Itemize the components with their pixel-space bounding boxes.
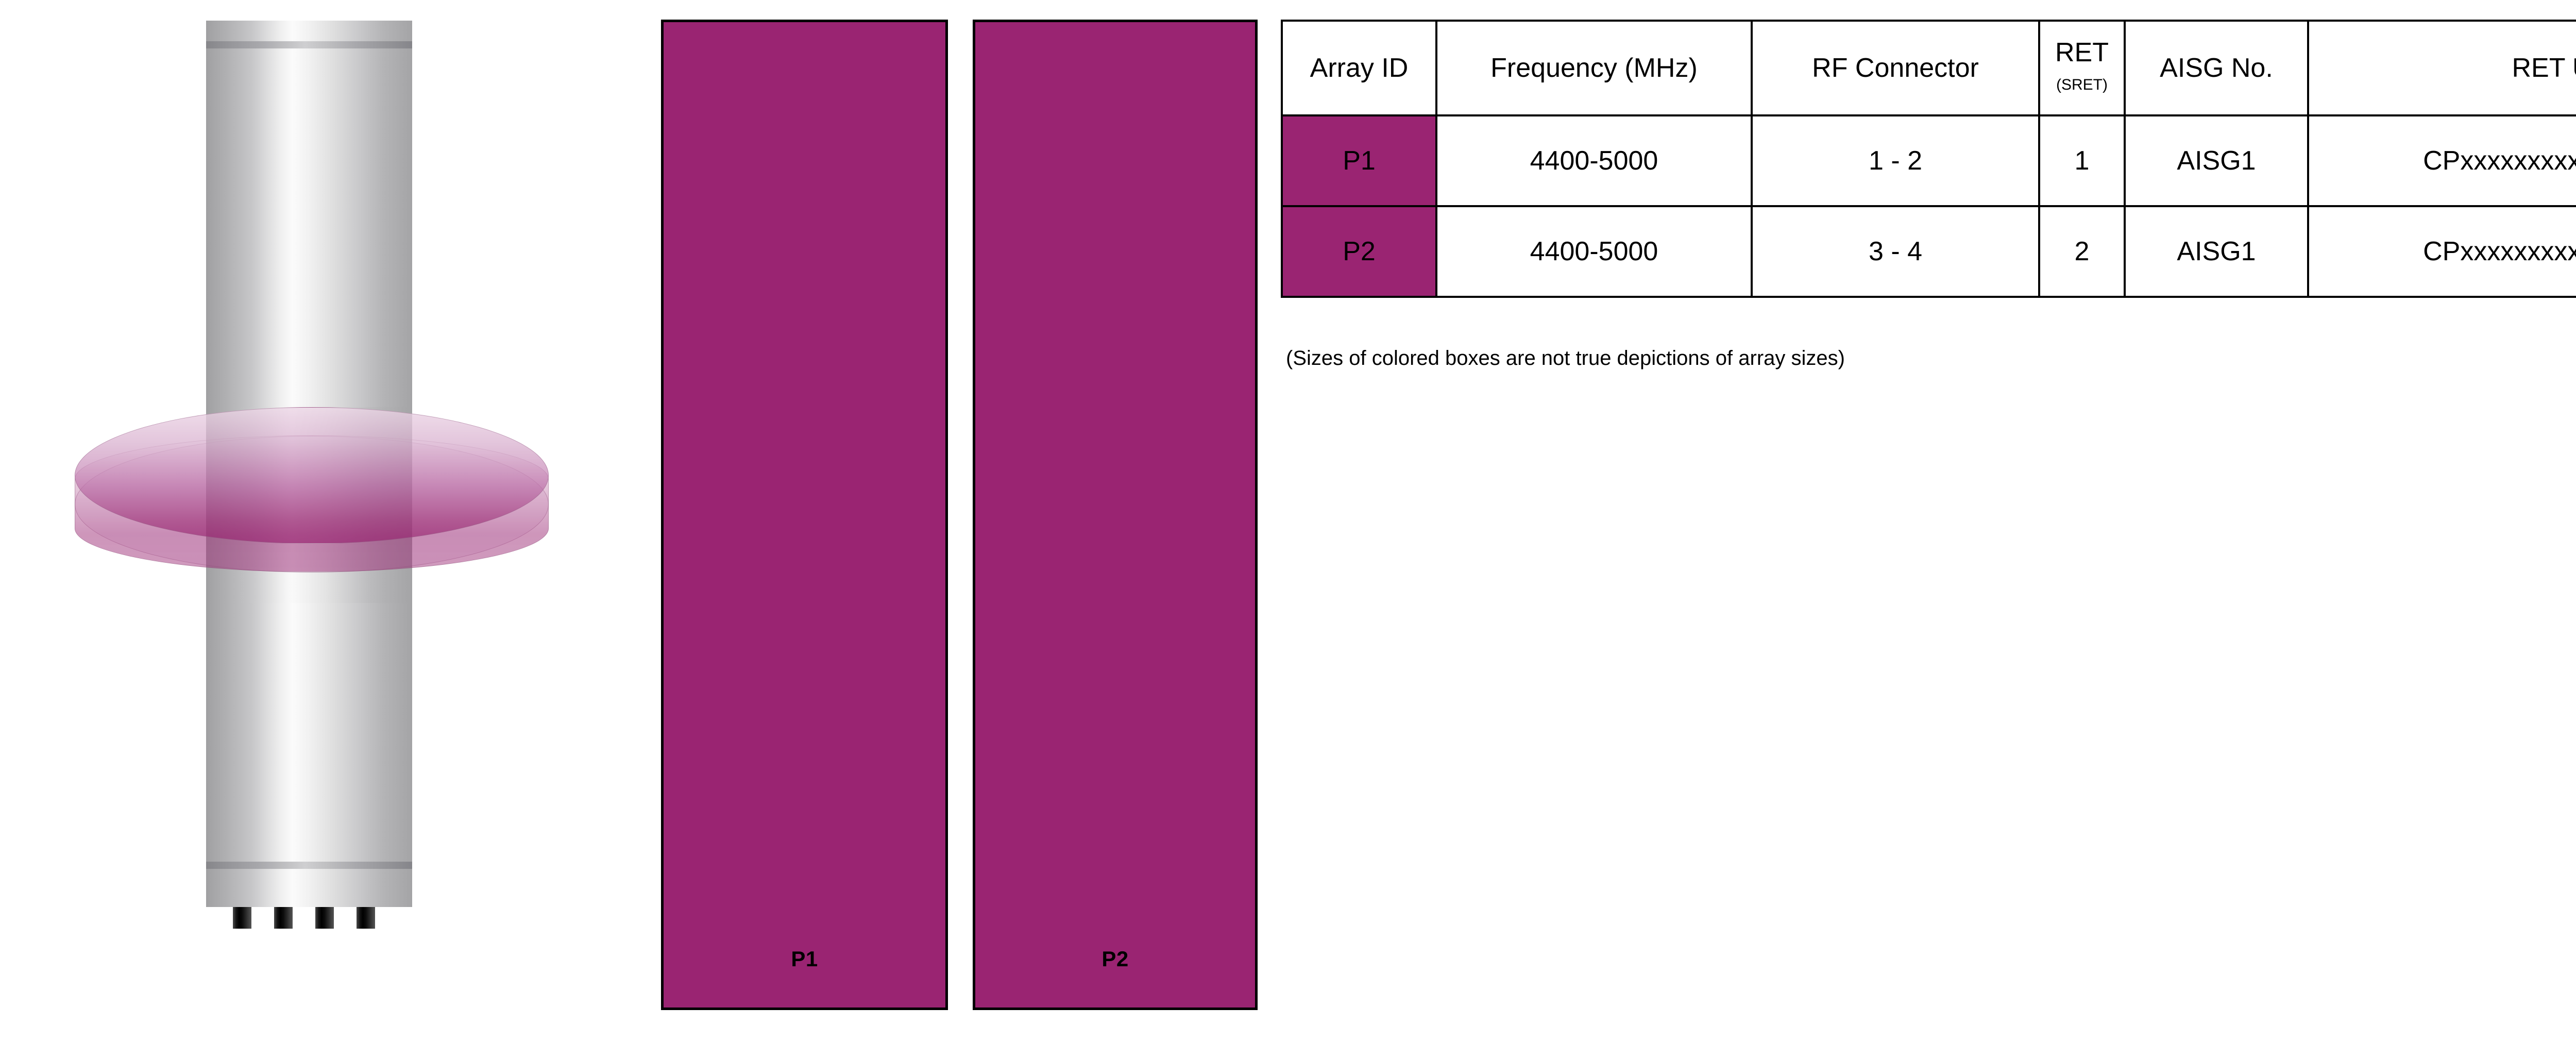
column-header-rf-connector: RF Connector [1752, 21, 2039, 115]
rf-connector-stub-3 [315, 907, 334, 929]
cell-ret-uid: CPxxxxxxxxxxxxxxxxP2 [2308, 206, 2576, 297]
cell-array-id: P1 [1282, 115, 1436, 206]
array-coverage-disc [75, 407, 549, 603]
radome-bottom-band [206, 862, 412, 869]
column-header-array-id: Array ID [1282, 21, 1436, 115]
column-header-ret-uid: RET UID [2308, 21, 2576, 115]
radome-top-band [206, 41, 412, 48]
rf-connector-stub-4 [357, 907, 375, 929]
antenna-illustration [0, 0, 639, 1041]
cell-ret: 1 [2039, 115, 2125, 206]
column-header-ret-sub: (SRET) [2040, 77, 2124, 93]
array-box-label-p1: P1 [664, 947, 945, 971]
table-row: P1 4400-5000 1 - 2 1 AISG1 CPxxxxxxxxxxx… [1282, 115, 2576, 206]
cell-frequency: 4400-5000 [1436, 115, 1752, 206]
disc-top-ellipse [75, 407, 549, 544]
cell-ret-uid: CPxxxxxxxxxxxxxxxxP1 [2308, 115, 2576, 206]
cell-array-id: P2 [1282, 206, 1436, 297]
cell-rf-connector: 1 - 2 [1752, 115, 2039, 206]
array-box-label-p2: P2 [975, 947, 1255, 971]
column-header-ret: RET (SRET) [2039, 21, 2125, 115]
rf-connector-stub-1 [233, 907, 251, 929]
cell-aisg-no: AISG1 [2125, 115, 2308, 206]
cell-rf-connector: 3 - 4 [1752, 206, 2039, 297]
table-header-row: Array ID Frequency (MHz) RF Connector RE… [1282, 21, 2576, 115]
cell-frequency: 4400-5000 [1436, 206, 1752, 297]
rf-connector-stub-2 [274, 907, 293, 929]
cell-aisg-no: AISG1 [2125, 206, 2308, 297]
table-row: P2 4400-5000 3 - 4 2 AISG1 CPxxxxxxxxxxx… [1282, 206, 2576, 297]
array-specification-table: Array ID Frequency (MHz) RF Connector RE… [1281, 20, 2576, 298]
column-header-ret-main: RET [2040, 39, 2124, 66]
table-caption: (Sizes of colored boxes are not true dep… [1286, 347, 1845, 370]
array-box-p1: P1 [661, 20, 948, 1010]
column-header-frequency: Frequency (MHz) [1436, 21, 1752, 115]
column-header-aisg-no: AISG No. [2125, 21, 2308, 115]
array-box-p2: P2 [973, 20, 1258, 1010]
cell-ret: 2 [2039, 206, 2125, 297]
